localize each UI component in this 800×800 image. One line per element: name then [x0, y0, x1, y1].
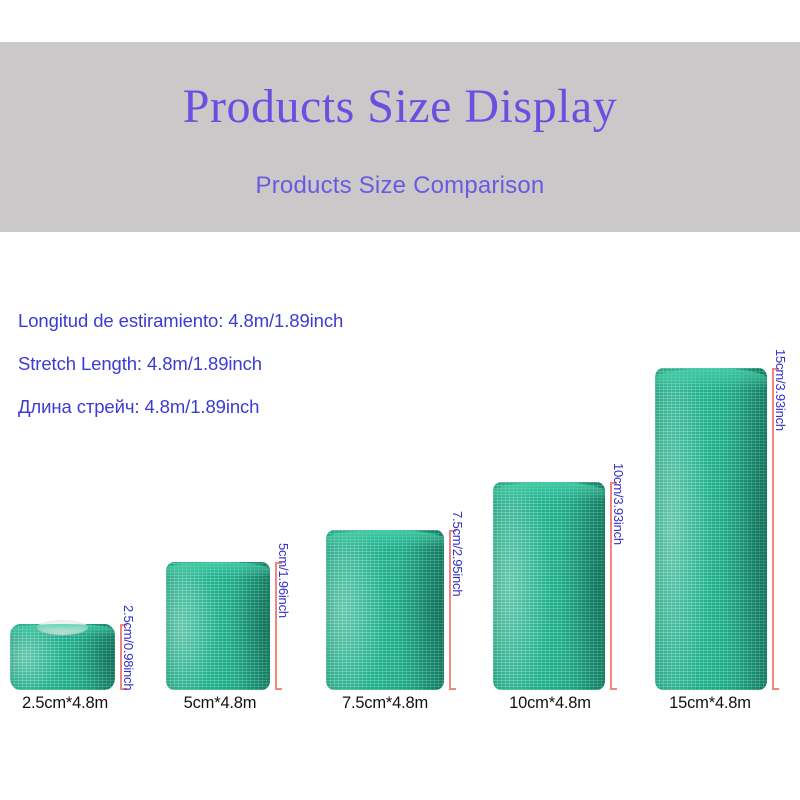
header-band — [0, 42, 800, 232]
bandage-roll-5cm — [166, 562, 270, 690]
roll-core-2-5cm — [37, 620, 87, 635]
product-row: 2.5cm/0.98inch 5cm/1.96inch 7.5cm/2.95in… — [0, 330, 800, 690]
dimension-label-7-5cm: 7.5cm/2.95inch — [450, 511, 465, 596]
caption-5cm: 5cm*4.8m — [155, 694, 285, 713]
caption-2-5cm: 2.5cm*4.8m — [0, 694, 130, 713]
bandage-roll-10cm — [493, 482, 605, 690]
caption-7-5cm: 7.5cm*4.8m — [315, 694, 455, 713]
spec-line-spanish: Longitud de estiramiento: 4.8m/1.89inch — [18, 310, 538, 332]
caption-10cm: 10cm*4.8m — [485, 694, 615, 713]
caption-15cm: 15cm*4.8m — [645, 694, 775, 713]
page-title: Products Size Display — [0, 82, 800, 132]
dimension-label-10cm: 10cm/3.93inch — [611, 463, 626, 545]
roll-top-face-5cm — [166, 562, 270, 578]
bandage-roll-2-5cm — [10, 624, 115, 690]
dimension-label-5cm: 5cm/1.96inch — [276, 543, 291, 618]
roll-top-face-10cm — [493, 482, 605, 502]
dimension-label-15cm: 15cm/3.93inch — [773, 349, 788, 431]
roll-top-face-7-5cm — [326, 530, 444, 548]
page-subtitle: Products Size Comparison — [0, 172, 800, 200]
product-size-display-page: Products Size Display Products Size Comp… — [0, 0, 800, 800]
bandage-roll-7-5cm — [326, 530, 444, 690]
roll-top-face-15cm — [655, 368, 767, 390]
bandage-roll-15cm — [655, 368, 767, 690]
dimension-label-2-5cm: 2.5cm/0.98inch — [121, 605, 136, 690]
